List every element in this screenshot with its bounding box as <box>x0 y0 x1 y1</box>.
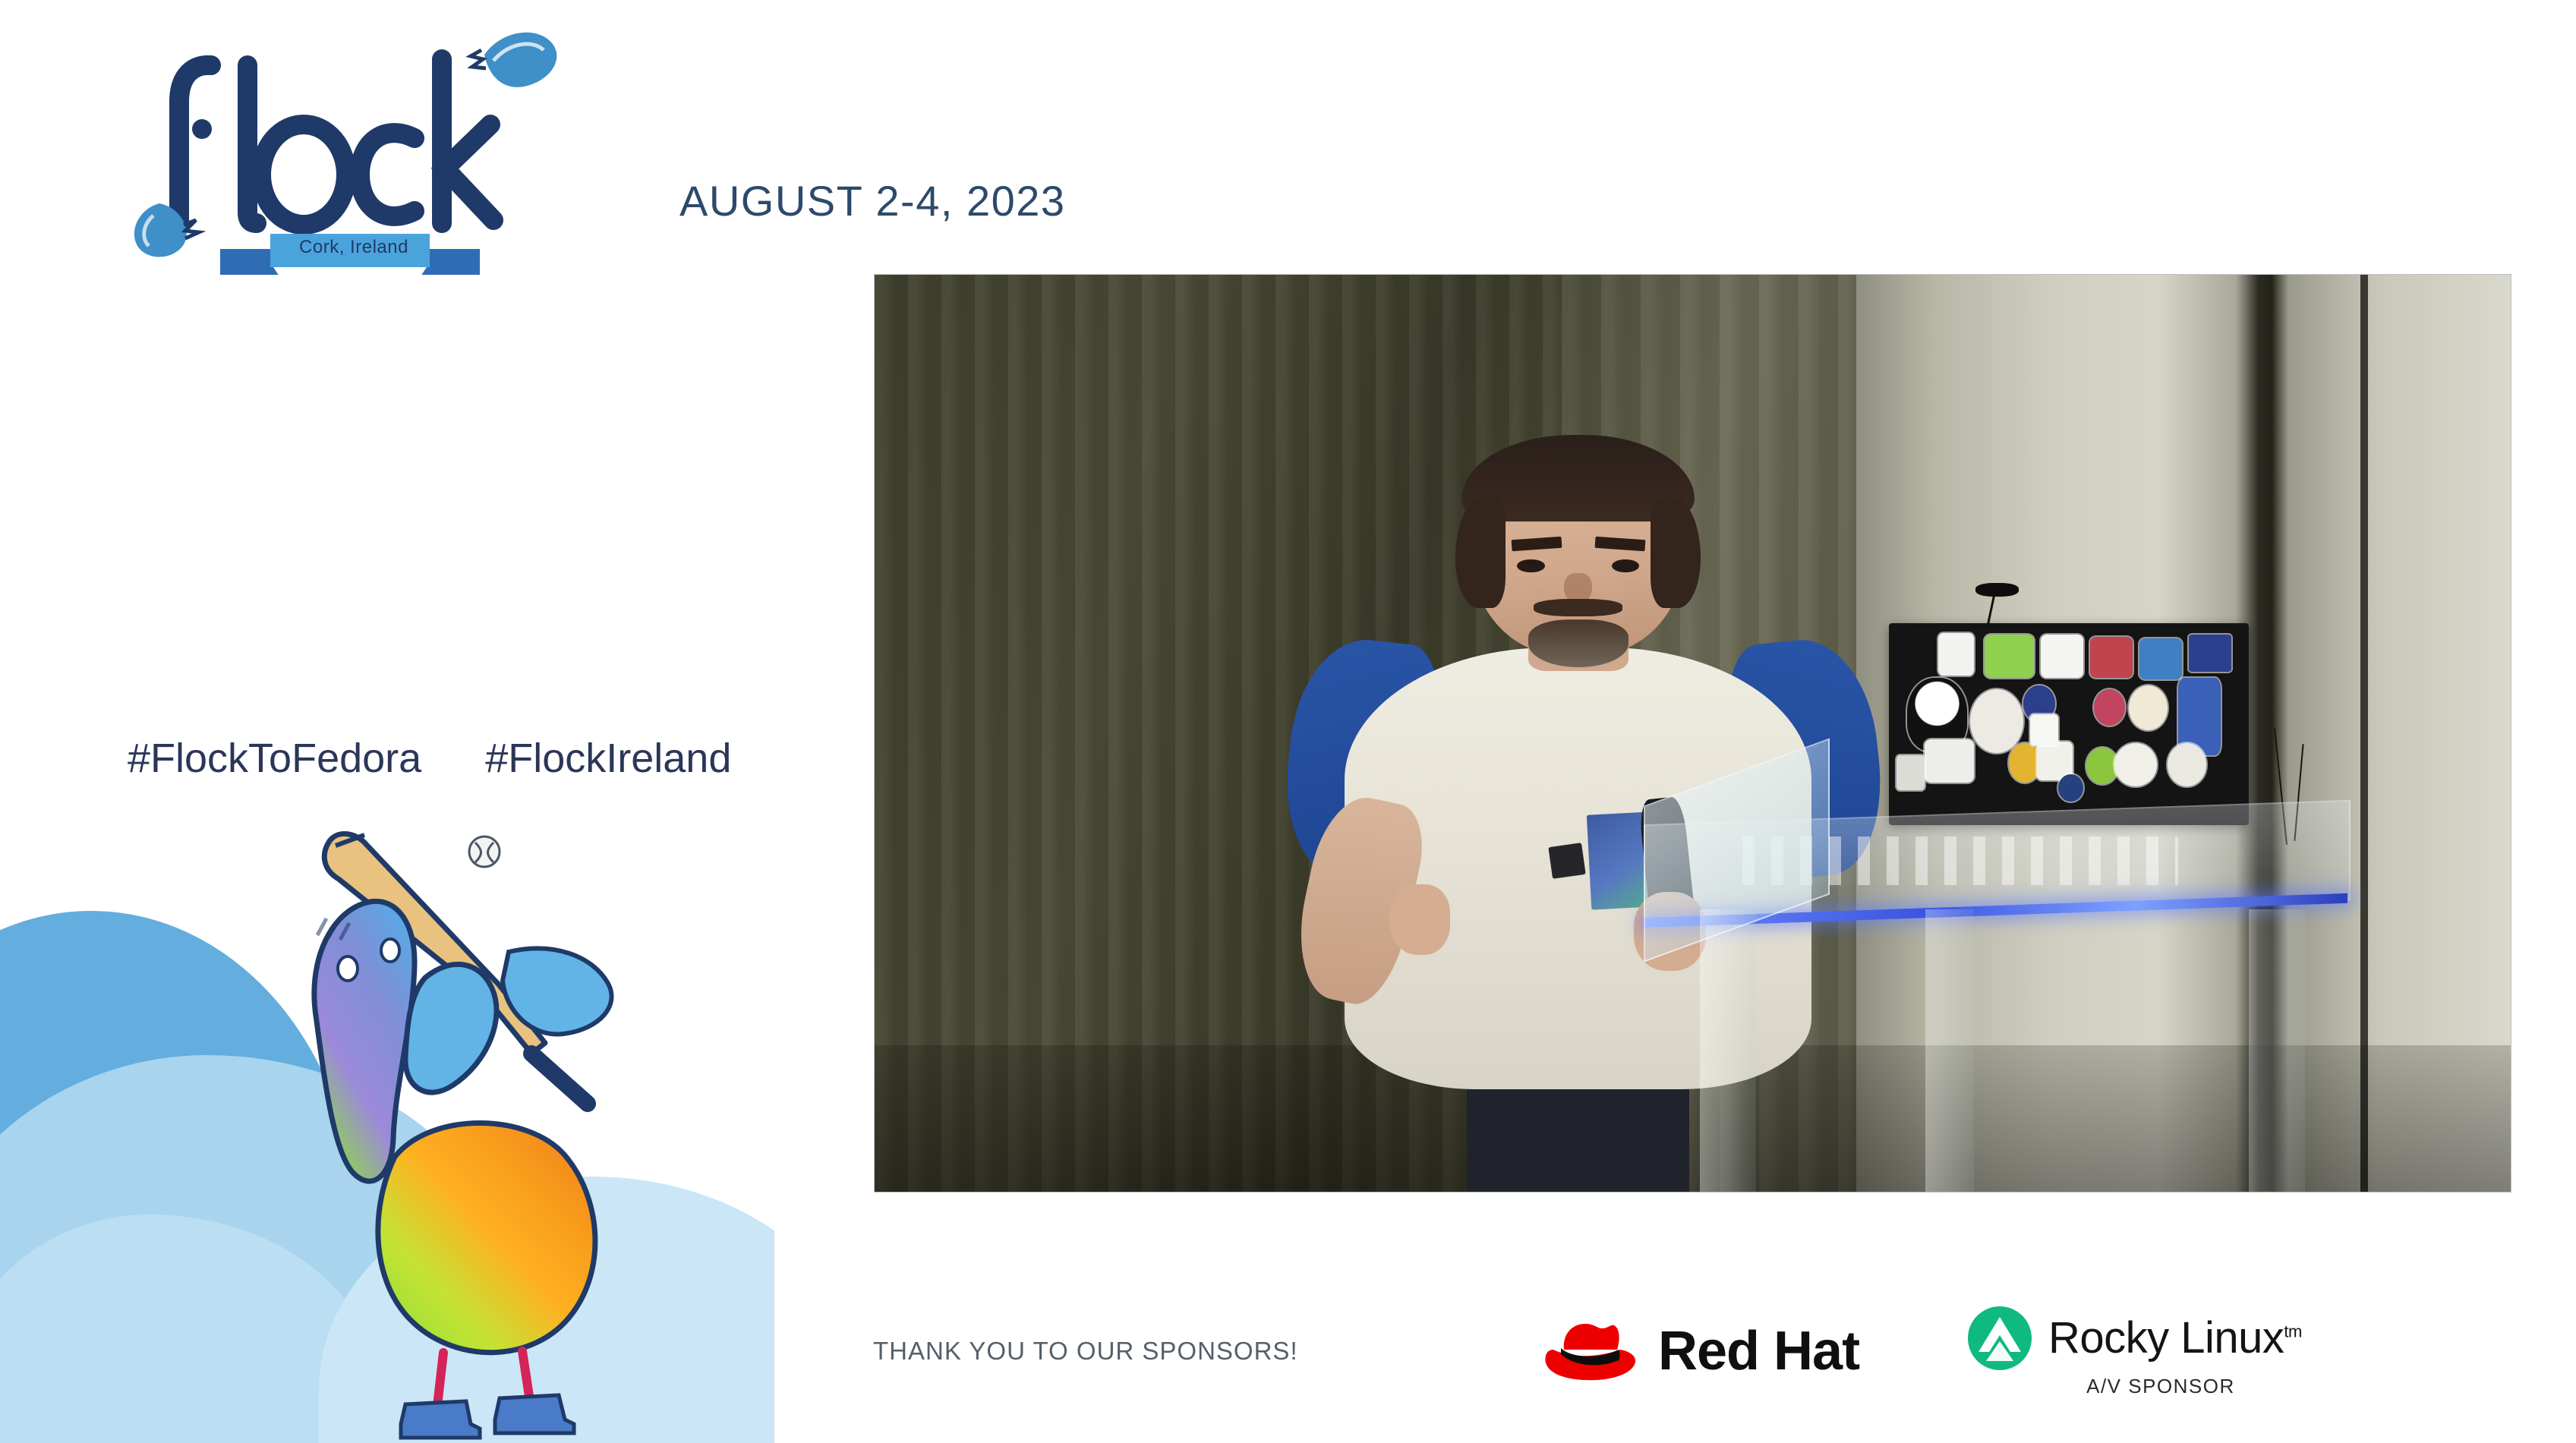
sliotar-ball <box>469 836 500 867</box>
event-date: AUGUST 2-4, 2023 <box>679 176 1066 225</box>
rocky-linux-mountain-icon <box>1966 1305 2033 1372</box>
sticker-hex-3 <box>1925 739 1974 782</box>
sticker-small-1 <box>1897 755 1925 790</box>
sponsors-thank-you-label: THANK YOU TO OUR SPONSORS! <box>873 1337 1541 1366</box>
logo-f-dot <box>192 119 212 139</box>
logo-letter-f <box>179 65 211 223</box>
red-hat-wordmark: Red Hat <box>1658 1320 1859 1382</box>
feather-icon-bottom <box>134 203 199 257</box>
lectern-column-2 <box>1925 909 1975 1192</box>
red-fedora-hat-icon <box>1541 1319 1638 1383</box>
feather-icon-top <box>471 33 557 87</box>
sticker-hex-2 <box>2041 635 2083 677</box>
speaker-hair-side-right <box>1651 498 1701 608</box>
mascot-body <box>378 1123 595 1353</box>
rocky-linux-wordmark-text: Rocky Linux <box>2048 1313 2284 1363</box>
rocky-linux-trademark: tm <box>2284 1322 2301 1341</box>
rocky-linux-tier-label: A/V SPONSOR <box>2086 1375 2235 1398</box>
sticker-hex-5 <box>2030 714 2058 745</box>
flock-logo: Cork, Ireland <box>114 17 585 275</box>
mascot-wing-front <box>405 964 497 1092</box>
lectern-column-1 <box>1700 909 1756 1192</box>
lectern-column-3 <box>2249 909 2305 1192</box>
sticker-hex-red <box>2090 637 2133 678</box>
acrylic-lectern <box>1644 788 2347 1192</box>
sponsor-rocky-linux[interactable]: Rocky Linuxtm A/V SPONSOR <box>1966 1305 2302 1398</box>
logo-letter-l <box>248 65 257 223</box>
sticker-fedora <box>2189 635 2231 672</box>
sticker-hex-blue <box>2139 638 2182 679</box>
mascot-head <box>314 901 415 1181</box>
sticker-round-3 <box>2168 743 2206 786</box>
location-banner-label: Cork, Ireland <box>278 237 430 258</box>
sticker-round-yellow <box>2009 743 2041 782</box>
speaker-hand-left <box>1389 884 1451 955</box>
speaker-hair-side-left <box>1455 498 1506 608</box>
mascot-shoes <box>401 1395 574 1438</box>
sticker-round-cream <box>2129 685 2168 730</box>
sponsors-row: THANK YOU TO OUR SPONSORS! Red Hat Rocky… <box>873 1283 2505 1419</box>
sticker-hex-green <box>1985 635 2034 677</box>
flock-bird-mascot <box>281 812 676 1442</box>
logo-letter-k-arms <box>445 124 493 220</box>
sticker-round-1 <box>1970 689 2023 753</box>
mascot-eye-left <box>338 956 358 981</box>
sticker-hex-1 <box>1938 633 1973 676</box>
livestream-video-frame[interactable] <box>875 275 2511 1192</box>
hashtag-row: #FlockToFedora #FlockIreland <box>128 735 731 782</box>
rocky-linux-wordmark: Rocky Linuxtm <box>2048 1312 2302 1363</box>
hashtag-flockireland: #FlockIreland <box>485 735 731 782</box>
sticker-round-2 <box>2114 743 2157 786</box>
speaker-goatee <box>1528 620 1629 667</box>
speaker-moustache <box>1534 599 1622 616</box>
sticker-round-pink <box>2094 689 2126 726</box>
logo-letter-c <box>360 133 415 216</box>
mascot-eye-right <box>381 939 399 962</box>
microphone-head-icon <box>1975 583 2019 597</box>
logo-letter-o <box>261 124 346 225</box>
speaker-lapel-clip <box>1548 843 1585 878</box>
slide-canvas: Cork, Ireland AUGUST 2-4, 2023 #FlockToF… <box>0 0 2576 1443</box>
hashtag-flocktofedora: #FlockToFedora <box>128 735 421 782</box>
sticker-round-lime <box>2086 748 2118 785</box>
sponsor-red-hat[interactable]: Red Hat <box>1541 1319 1966 1383</box>
